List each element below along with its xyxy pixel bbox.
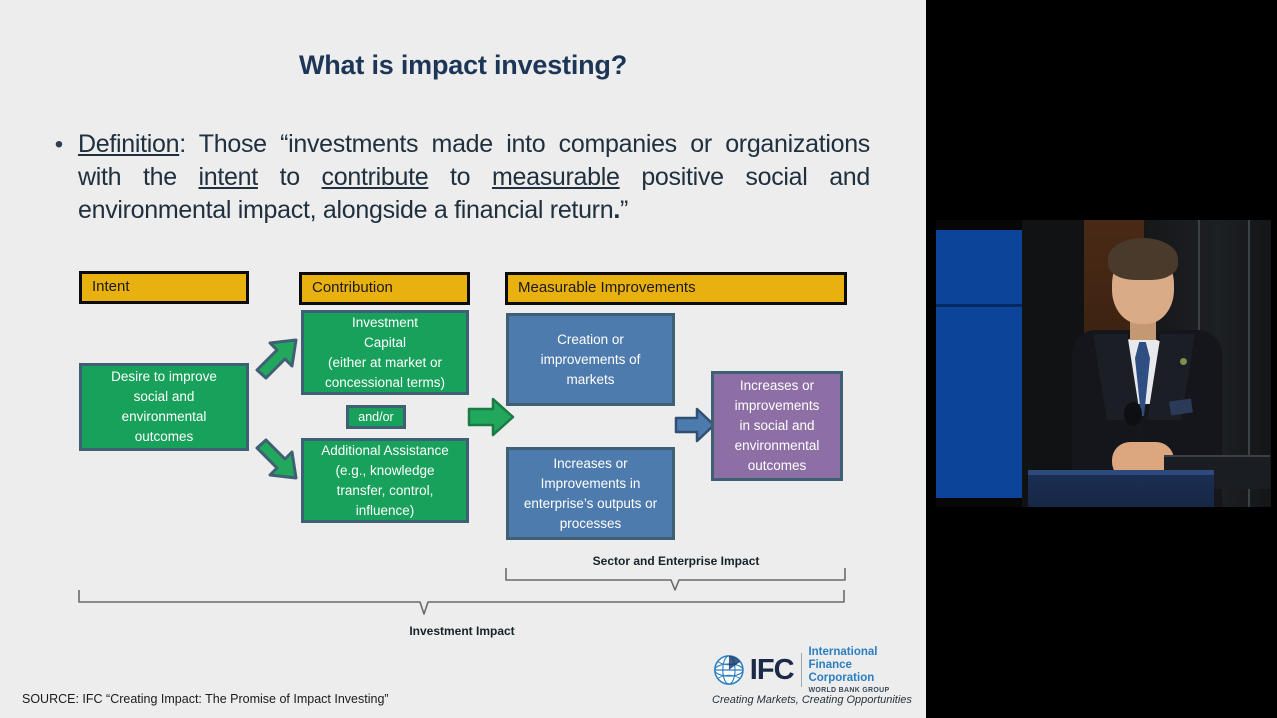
ifc-name-line1: International bbox=[808, 646, 914, 659]
ifc-tagline: Creating Markets, Creating Opportunities bbox=[712, 694, 914, 706]
box-creation-of-markets-text: Creation or improvements of markets bbox=[541, 330, 641, 390]
video-blue-seam bbox=[936, 304, 1022, 307]
box-desire-to-improve: Desire to improve social and environment… bbox=[79, 363, 249, 451]
diagram-header-intent: Intent bbox=[79, 271, 249, 304]
box-and-or-text: and/or bbox=[358, 409, 393, 425]
video-pane[interactable] bbox=[926, 0, 1277, 718]
bracket-investment-impact bbox=[76, 588, 848, 616]
bracket-label-investment-impact: Investment Impact bbox=[76, 624, 848, 638]
diagram-header-contribution: Contribution bbox=[299, 272, 470, 305]
globe-icon bbox=[712, 652, 746, 688]
video-blue-backdrop bbox=[936, 230, 1022, 498]
green-arrow-down-icon bbox=[251, 438, 303, 482]
ifc-name-line2: Finance Corporation bbox=[808, 659, 914, 685]
box-investment-capital: Investment Capital (either at market or … bbox=[301, 310, 469, 395]
ifc-wordmark: IFC bbox=[750, 654, 794, 687]
box-enterprise-outputs: Increases or Improvements in enterprise’… bbox=[506, 447, 675, 540]
box-investment-capital-text: Investment Capital (either at market or … bbox=[325, 313, 445, 393]
impact-investing-diagram: Intent Contribution Measurable Improveme… bbox=[0, 0, 926, 718]
logo-divider bbox=[801, 653, 802, 687]
screen: What is impact investing? • Definition: … bbox=[0, 0, 1277, 718]
box-creation-of-markets: Creation or improvements of markets bbox=[506, 313, 675, 406]
video-pillarbox-right bbox=[1271, 208, 1277, 521]
box-additional-assistance-text: Additional Assistance (e.g., knowledge t… bbox=[321, 441, 449, 521]
box-additional-assistance: Additional Assistance (e.g., knowledge t… bbox=[301, 438, 469, 523]
speaker-video-frame[interactable] bbox=[928, 208, 1277, 521]
ifc-logo: IFC International Finance Corporation WO… bbox=[712, 650, 914, 708]
source-note: SOURCE: IFC “Creating Impact: The Promis… bbox=[22, 692, 389, 706]
video-pillarbox-left bbox=[928, 208, 936, 521]
box-enterprise-outputs-text: Increases or Improvements in enterprise’… bbox=[524, 454, 657, 534]
presentation-slide: What is impact investing? • Definition: … bbox=[0, 0, 926, 718]
green-arrow-up-icon bbox=[251, 336, 303, 380]
podium-top-edge bbox=[1028, 470, 1214, 475]
box-desire-text: Desire to improve social and environment… bbox=[111, 367, 217, 447]
box-and-or: and/or bbox=[346, 405, 406, 429]
box-social-environmental-outcomes-text: Increases or improvements in social and … bbox=[735, 376, 820, 476]
microphone-icon bbox=[1124, 402, 1142, 426]
speaker-lapel-pin bbox=[1180, 358, 1187, 365]
box-social-environmental-outcomes: Increases or improvements in social and … bbox=[711, 371, 843, 481]
video-letterbox-top bbox=[928, 208, 1277, 220]
diagram-header-measurable-improvements: Measurable Improvements bbox=[505, 272, 847, 305]
video-letterbox-bottom bbox=[928, 507, 1277, 521]
speaker-hair bbox=[1108, 238, 1178, 280]
blue-arrow-right-icon bbox=[674, 406, 716, 444]
ifc-group-line: WORLD BANK GROUP bbox=[808, 687, 914, 694]
